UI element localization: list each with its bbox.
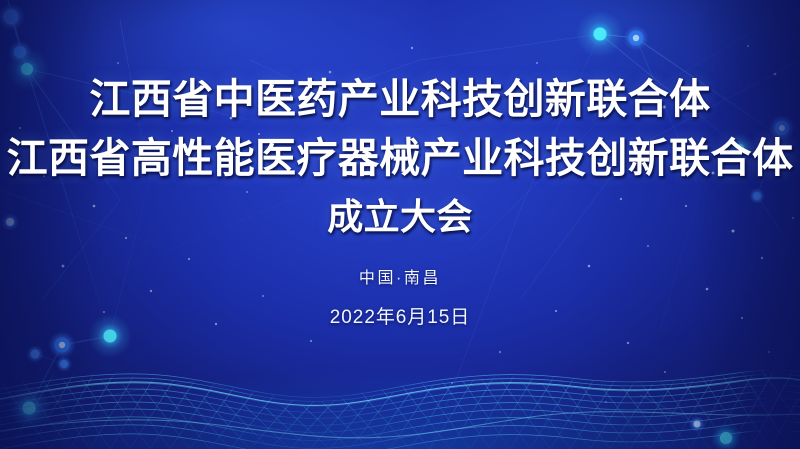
banner-content: 江西省中医药产业科技创新联合体 江西省高性能医疗器械产业科技创新联合体 成立大会…: [0, 0, 800, 449]
event-banner: 江西省中医药产业科技创新联合体 江西省高性能医疗器械产业科技创新联合体 成立大会…: [0, 0, 800, 449]
event-location: 中国·南昌: [359, 264, 441, 288]
headline-line-3: 成立大会: [327, 198, 472, 236]
headline-line-2: 江西省高性能医疗器械产业科技创新联合体: [7, 137, 794, 180]
headline-line-1: 江西省中医药产业科技创新联合体: [89, 78, 710, 121]
event-date: 2022年6月15日: [330, 302, 470, 329]
